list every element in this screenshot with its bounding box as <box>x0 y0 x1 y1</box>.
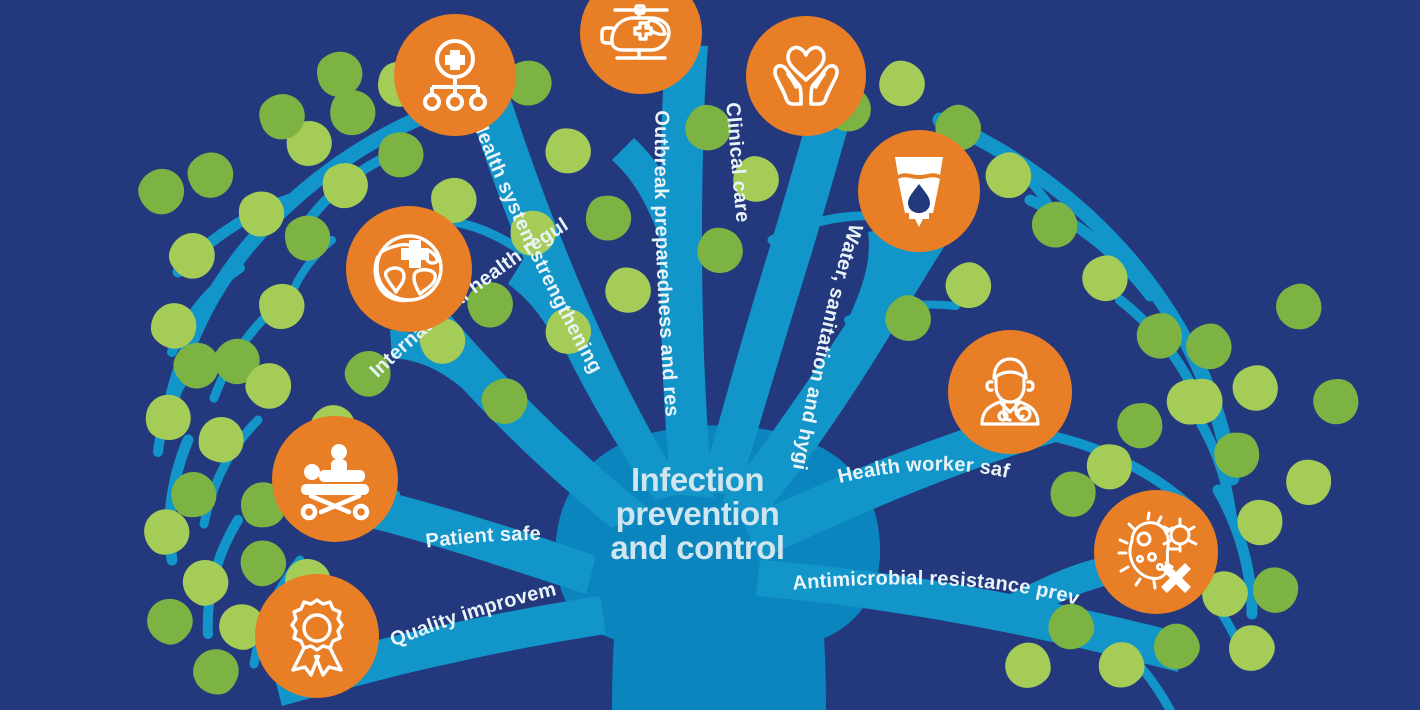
node-quality-improvement[interactable]: Quality improvement <box>255 574 379 698</box>
node-international-health-regulations[interactable]: International health regulations <box>346 206 472 332</box>
tree-illustration: Health system strengthening Outbreak pre… <box>0 0 1420 710</box>
patient-on-gurney-icon <box>293 440 377 518</box>
node-antimicrobial-resistance-prevention[interactable]: Antimicrobial resistance prevention <box>1094 490 1218 614</box>
node-patient-safety[interactable]: Patient safety <box>272 416 398 542</box>
node-clinical-care[interactable]: Clinical care <box>746 16 866 136</box>
node-water-sanitation-and-hygiene[interactable]: Water, sanitation and hygiene <box>858 130 980 252</box>
node-health-system-strengthening[interactable]: Health system strengthening <box>394 14 516 136</box>
award-rosette-icon <box>279 596 355 676</box>
org-chart-medical-cross-icon <box>418 38 492 112</box>
water-glass-droplet-icon <box>887 151 951 231</box>
health-worker-stethoscope-icon <box>970 352 1050 432</box>
node-health-worker-safety[interactable]: Health worker safety <box>948 330 1072 454</box>
center-title: Infection prevention and control <box>600 463 795 565</box>
hands-holding-heart-icon <box>768 40 844 112</box>
medical-helicopter-icon <box>601 0 681 68</box>
microbes-crossed-out-icon <box>1114 513 1198 591</box>
ipc-tree-infographic: Health system strengthening Outbreak pre… <box>0 0 1420 710</box>
globe-medical-cross-icon <box>368 228 450 310</box>
